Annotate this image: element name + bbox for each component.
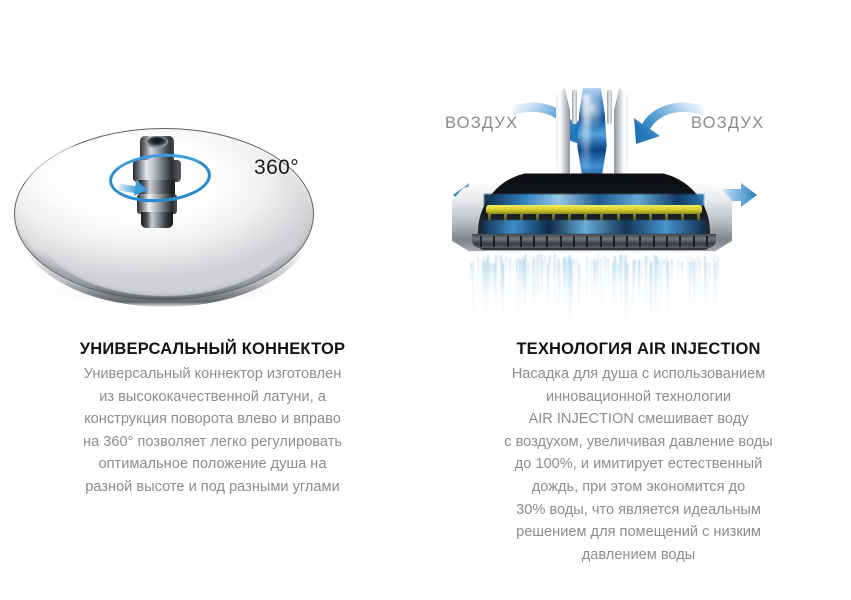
water-streak — [575, 259, 577, 281]
water-streak — [627, 263, 629, 284]
water-streak — [634, 261, 636, 281]
caption-line: Насадка для душа с использованием — [454, 363, 823, 386]
water-streak — [509, 259, 511, 293]
caption-line: разной высоте и под разными углами — [28, 476, 397, 499]
water-streak — [593, 261, 595, 312]
nozzle — [507, 236, 509, 247]
shower-disc-assembly: 360° — [14, 128, 314, 313]
nozzle — [520, 236, 522, 247]
water-streak — [536, 258, 538, 301]
water-streak — [607, 259, 609, 287]
caption-line: давлением воды — [454, 544, 823, 567]
nozzle — [653, 236, 655, 247]
throat-post-left — [572, 90, 577, 124]
water-streak — [671, 259, 673, 292]
water-streak — [645, 256, 647, 279]
nozzle — [586, 236, 588, 247]
water-streak — [485, 264, 487, 309]
caption-body: Универсальный коннектор изготовлен из вы… — [28, 363, 397, 499]
caption-title: ТЕХНОЛОГИЯ AIR INJECTION — [454, 338, 823, 360]
caption-line: оптимальное положение душа на — [28, 453, 397, 476]
water-streak — [699, 259, 701, 296]
water-streak — [650, 264, 652, 324]
nozzle — [666, 236, 668, 247]
caption-line: AIR INJECTION смешивает воду — [454, 408, 823, 431]
water-streak — [553, 262, 555, 305]
water-streak — [494, 263, 496, 297]
water-streak — [528, 263, 530, 291]
water-streak — [660, 256, 662, 304]
water-turbulence-lower — [482, 220, 706, 234]
water-streak — [569, 258, 571, 322]
caption-line: с воздухом, увеличивая давление воды — [454, 431, 823, 454]
caption-universal-connector: УНИВЕРСАЛЬНЫЙ КОННЕКТОР Универсальный ко… — [28, 338, 397, 499]
caption-body: Насадка для душа с использованием иннова… — [454, 363, 823, 566]
water-streak — [638, 260, 640, 293]
air-inflow-arrow-right-icon — [622, 96, 706, 165]
water-streak — [525, 254, 527, 293]
nozzle — [693, 236, 695, 247]
water-streak — [597, 254, 599, 302]
caption-line: решением для помещений с низким — [454, 521, 823, 544]
panel-air-injection: ВОЗДУХ ВОЗДУХ — [426, 0, 851, 600]
water-streak — [488, 261, 490, 296]
water-streak — [621, 254, 623, 298]
caption-line: инновационной технологии — [454, 386, 823, 409]
water-streak — [663, 260, 665, 280]
nozzle — [639, 236, 641, 247]
caption-line: до 100%, и имитирует естественный — [454, 453, 823, 476]
water-streak — [547, 259, 549, 308]
water-streak — [624, 261, 626, 321]
water-streak — [655, 257, 657, 319]
water-streak — [578, 263, 580, 313]
water-streak — [516, 261, 518, 281]
water-streak — [590, 260, 592, 316]
caption-line: Универсальный коннектор изготовлен — [28, 363, 397, 386]
connector-base — [141, 212, 173, 228]
water-streak — [613, 261, 615, 312]
water-streak — [477, 256, 479, 306]
throat-post-right — [607, 90, 612, 124]
caption-line: из высококачественной латуни, а — [28, 386, 397, 409]
caption-line: дождь, при этом экономится до — [454, 476, 823, 499]
water-streak — [632, 260, 634, 319]
water-streak — [502, 264, 504, 318]
water-streak — [681, 262, 683, 280]
shower-head-cutaway — [452, 172, 732, 262]
caption-line: на 360° позволяет легко регулировать — [28, 431, 397, 454]
caption-title: УНИВЕРСАЛЬНЫЙ КОННЕКТОР — [28, 338, 397, 360]
water-streak — [564, 261, 566, 290]
connector-bore-icon — [146, 136, 168, 148]
water-streak — [693, 258, 695, 303]
water-streak — [677, 260, 679, 281]
water-streak — [558, 260, 560, 307]
nozzle — [573, 236, 575, 247]
water-streak — [586, 256, 588, 313]
nozzle-row — [480, 236, 708, 247]
rotation-arrow-head-icon — [134, 180, 149, 198]
water-spray — [470, 254, 720, 322]
infographic-canvas: 360° УНИВЕРСАЛЬНЫЙ КОННЕКТОР Универсальн… — [0, 0, 851, 600]
water-streak — [689, 262, 691, 319]
nozzle — [679, 236, 681, 247]
caption-air-injection: ТЕХНОЛОГИЯ AIR INJECTION Насадка для душ… — [454, 338, 823, 566]
rotation-degree-label: 360° — [254, 156, 299, 180]
nozzle — [546, 236, 548, 247]
water-streak — [695, 258, 697, 310]
nozzle — [600, 236, 602, 247]
water-streak — [708, 262, 710, 309]
nozzle — [480, 236, 482, 247]
water-streak — [604, 255, 606, 303]
water-streak — [470, 263, 472, 282]
air-label-left: ВОЗДУХ — [445, 114, 518, 133]
water-streak — [544, 256, 546, 291]
water-streak — [499, 255, 501, 294]
water-streak — [541, 260, 543, 293]
nozzle — [533, 236, 535, 247]
water-streak — [519, 260, 521, 317]
water-streak — [717, 256, 719, 301]
water-streak — [505, 257, 507, 276]
figure-chrome-shower-disc: 360° — [0, 40, 425, 330]
nozzle — [706, 236, 708, 247]
nozzle — [613, 236, 615, 247]
nozzle — [626, 236, 628, 247]
nozzle — [493, 236, 495, 247]
water-streak — [600, 258, 602, 317]
water-streak — [667, 264, 669, 320]
panel-universal-connector: 360° УНИВЕРСАЛЬНЫЙ КОННЕКТОР Универсальн… — [0, 0, 425, 600]
figure-air-injection-cutaway: ВОЗДУХ ВОЗДУХ — [426, 40, 851, 330]
nozzle — [560, 236, 562, 247]
caption-line: 30% воды, что является идеальным — [454, 499, 823, 522]
caption-line: конструкция поворота влево и вправо — [28, 408, 397, 431]
water-streak — [641, 260, 643, 301]
